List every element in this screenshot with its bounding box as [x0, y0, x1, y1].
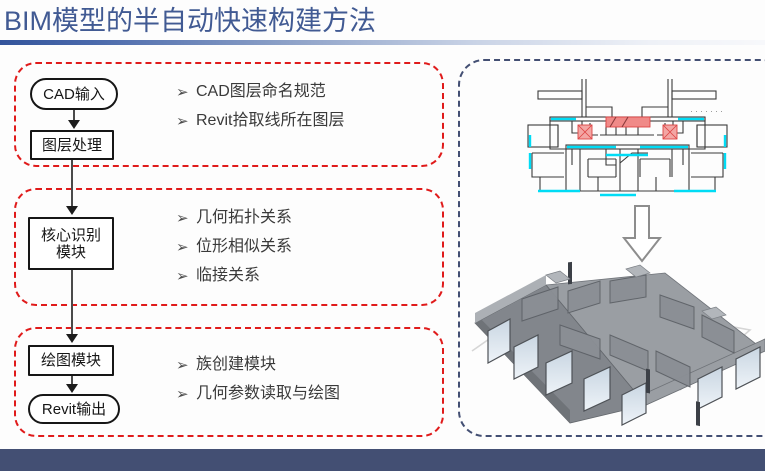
result-panel-content: ······· [458, 59, 765, 437]
flow-node-core-module[interactable]: 核心识别 模块 [28, 217, 114, 270]
arrowhead-cad-to-layer [68, 120, 80, 129]
flow-node-core-module-label-line2: 模块 [41, 244, 101, 261]
arrowhead-draw-to-revit [66, 384, 78, 393]
flow-node-layer-process[interactable]: 图层处理 [30, 130, 114, 160]
arrow-bullet-icon: ➢ [176, 384, 196, 404]
bullet-item: ➢ 位形相似关系 [176, 237, 292, 257]
connector-core-to-draw [71, 270, 73, 335]
bullet-item: ➢ Revit拾取线所在图层 [176, 111, 344, 131]
bullet-label: 几何拓扑关系 [196, 208, 292, 228]
arrowhead-layer-to-core [66, 206, 78, 215]
bullet-label: 族创建模块 [196, 355, 276, 375]
arrowhead-core-to-draw [66, 334, 78, 343]
flow-node-draw-module-label: 绘图模块 [41, 352, 101, 369]
title-underline-rule [0, 40, 765, 45]
arrow-bullet-icon: ➢ [176, 237, 196, 257]
bullet-label: 几何参数读取与绘图 [196, 384, 340, 404]
bullet-item: ➢ 几何参数读取与绘图 [176, 384, 340, 404]
plan-ellipsis-dots: ······· [690, 106, 725, 116]
arrow-bullet-icon: ➢ [176, 355, 196, 375]
flow-node-cad-input[interactable]: CAD输入 [30, 78, 118, 110]
connector-layer-to-core [71, 160, 73, 208]
bullet-label: CAD图层命名规范 [196, 82, 326, 102]
arrow-bullet-icon: ➢ [176, 111, 196, 131]
flow-node-cad-input-label: CAD输入 [43, 86, 105, 103]
arrow-bullet-icon: ➢ [176, 82, 196, 102]
footer-bar [0, 449, 765, 471]
bullet-list-core-stage: ➢ 几何拓扑关系 ➢ 位形相似关系 ➢ 临接关系 [176, 208, 292, 295]
flow-node-revit-output-label: Revit输出 [42, 401, 106, 418]
bim-3d-model [458, 255, 765, 437]
bullet-item: ➢ CAD图层命名规范 [176, 82, 344, 102]
bullet-list-draw-stage: ➢ 族创建模块 ➢ 几何参数读取与绘图 [176, 355, 340, 413]
title-area: BIM模型的半自动快速构建方法 [0, 0, 765, 48]
arrow-bullet-icon: ➢ [176, 208, 196, 228]
flow-node-draw-module[interactable]: 绘图模块 [28, 345, 114, 376]
bullet-item: ➢ 临接关系 [176, 266, 292, 286]
cad-floor-plan: ······· [520, 73, 735, 203]
page-title: BIM模型的半自动快速构建方法 [4, 4, 376, 38]
bullet-item: ➢ 族创建模块 [176, 355, 340, 375]
flow-node-revit-output[interactable]: Revit输出 [28, 394, 120, 424]
flow-node-layer-process-label: 图层处理 [42, 137, 102, 154]
arrow-bullet-icon: ➢ [176, 266, 196, 286]
flow-node-core-module-label-line1: 核心识别 [41, 227, 101, 244]
bullet-list-layer-stage: ➢ CAD图层命名规范 ➢ Revit拾取线所在图层 [176, 82, 344, 140]
bullet-item: ➢ 几何拓扑关系 [176, 208, 292, 228]
slide-canvas: BIM模型的半自动快速构建方法 CAD输入 图层处理 ➢ CAD图层命名规范 ➢… [0, 0, 765, 471]
bullet-label: Revit拾取线所在图层 [196, 111, 344, 131]
bullet-label: 临接关系 [196, 266, 260, 286]
bullet-label: 位形相似关系 [196, 237, 292, 257]
